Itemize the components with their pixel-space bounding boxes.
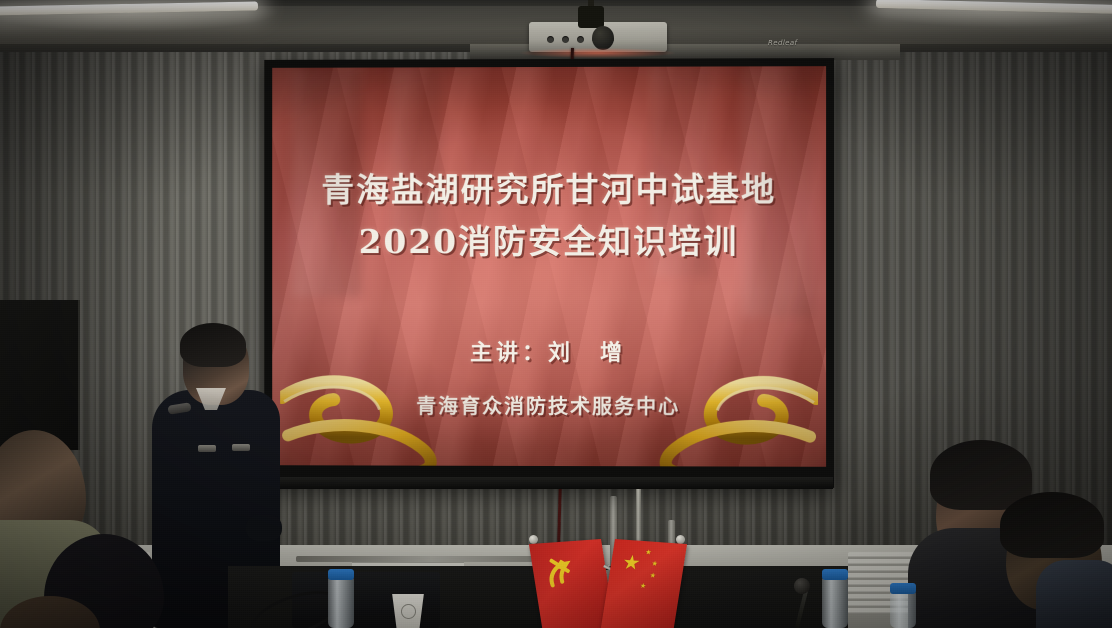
- water-bottle: [890, 590, 916, 628]
- uniform-badge: [198, 445, 216, 452]
- photo-scene: Redleaf: [0, 0, 1112, 628]
- audience-body-right-2: [1036, 560, 1112, 628]
- slide-vignette: [272, 66, 826, 467]
- bottle-cap: [890, 583, 916, 594]
- wall-display-panel: [0, 300, 80, 450]
- projection-screen: 青海盐湖研究所甘河中试基地 2020消防安全知识培训 主讲：刘 增 青海育众消防…: [264, 58, 834, 488]
- water-bottle: [822, 576, 848, 628]
- screen-brand-label: Redleaf: [768, 39, 797, 47]
- screen-weight-bar: [263, 477, 833, 489]
- bottle-cap: [822, 569, 848, 580]
- presenter-hair: [180, 323, 246, 367]
- paper-cup-logo: [401, 604, 416, 619]
- uniform-name-tag: [232, 444, 250, 451]
- microphone-head: [794, 578, 810, 594]
- presenter-hands: [246, 515, 282, 541]
- projector-mount: [578, 6, 604, 28]
- projector-light-spill: [520, 48, 675, 58]
- projected-slide: 青海盐湖研究所甘河中试基地 2020消防安全知识培训 主讲：刘 增 青海育众消防…: [272, 66, 826, 467]
- audience-hair-right-2: [1000, 492, 1104, 558]
- water-bottle: [328, 576, 354, 628]
- hammer-and-sickle-icon: [541, 553, 587, 595]
- flag-cloth-prc: ★ ★ ★ ★ ★: [601, 539, 687, 628]
- bottle-cap: [328, 569, 354, 580]
- projector-lens: [592, 26, 614, 50]
